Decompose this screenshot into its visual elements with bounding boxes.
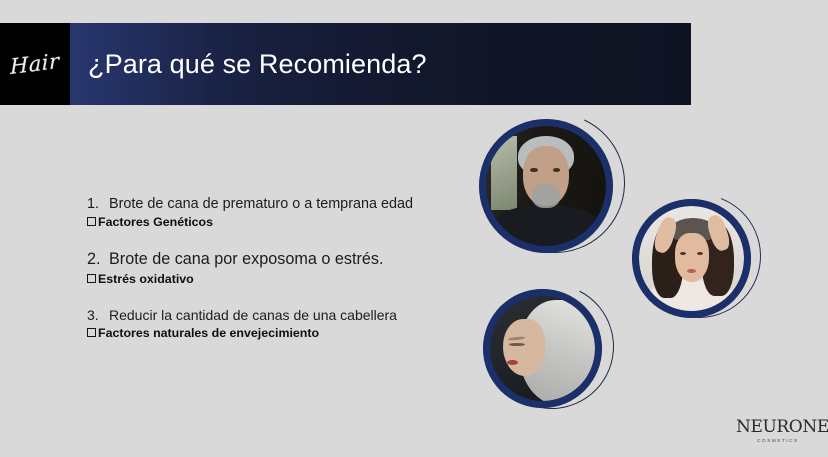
empty-checkbox-icon [87,274,96,283]
list-item-2-main: 2. Brote de cana por exposoma o estrés. [87,250,487,269]
hair-script-logo: Hair [10,49,60,79]
brand-block: Hair [0,23,70,105]
photo-older-image [490,296,595,401]
list-item-2-number: 2. [87,250,109,269]
list-item-1-sub-text: Factores Genéticos [98,215,213,229]
list-item-3-sub: Factores naturales de envejecimiento [87,326,487,340]
list-item-2: 2. Brote de cana por exposoma o estrés. … [87,250,487,286]
photo-man-gray-hair-portrait [479,119,613,253]
list-item-3-main: 3. Reducir la cantidad de canas de una c… [87,307,487,323]
empty-checkbox-icon [87,217,96,226]
list-item-1-sub: Factores Genéticos [87,215,487,229]
slide-canvas: Hair ¿Para qué se Recomienda? [0,0,828,457]
list-item-1-main: 1. Brote de cana de prematuro o a tempra… [87,196,487,212]
list-item-1-number: 1. [87,196,109,212]
list-item-2-text: Brote de cana por exposoma o estrés. [109,250,383,269]
list-item-3: 3. Reducir la cantidad de canas de una c… [87,307,487,340]
list-item-2-sub-text: Estrés oxidativo [98,272,194,286]
neurone-logo: NEURONE COSMETICS [736,419,820,443]
neurone-logo-wordmark: NEURONE [736,419,820,436]
list-item-1: 1. Brote de cana de prematuro o a tempra… [87,196,487,229]
empty-checkbox-icon [87,328,96,337]
photo-man-image [486,126,606,246]
list-item-3-number: 3. [87,307,109,323]
page-title: ¿Para qué se Recomienda? [88,49,427,80]
list-item-3-sub-text: Factores naturales de envejecimiento [98,326,319,340]
photo-older-woman-gray-hair [483,289,602,408]
recommendation-list: 1. Brote de cana de prematuro o a tempra… [87,196,487,340]
neurone-logo-tagline: COSMETICS [736,438,820,443]
list-item-3-text: Reducir la cantidad de canas de una cabe… [109,307,397,323]
photo-woman-checking-scalp [632,199,751,318]
list-item-1-text: Brote de cana de prematuro o a temprana … [109,196,413,212]
photo-woman-image [639,206,744,311]
list-item-2-sub: Estrés oxidativo [87,272,487,286]
